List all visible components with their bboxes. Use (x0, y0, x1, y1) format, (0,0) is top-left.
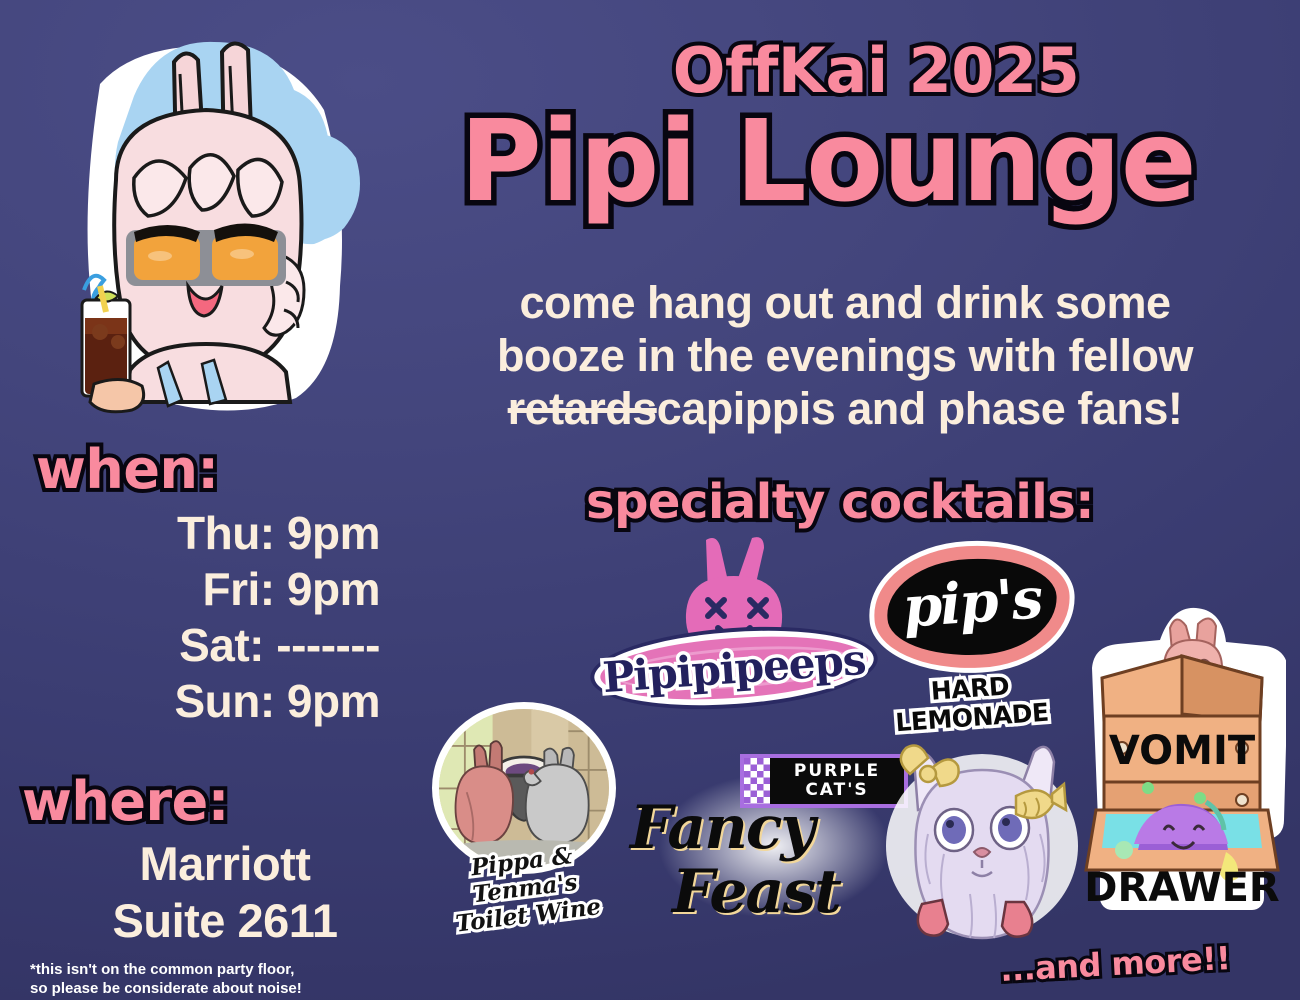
where-label: where: (22, 775, 229, 829)
event-name: OffKai 2025 (596, 40, 1156, 102)
blurb-line-1: come hang out and drink some (410, 276, 1280, 329)
pippa-mascot-icon (38, 18, 378, 428)
poster-canvas: OffKai 2025 Pipi Lounge come hang out an… (0, 0, 1300, 1000)
pippa-mascot-sticker (38, 18, 378, 428)
cocktail-logo-fancy-feast: PURPLE CAT'S Fancy Feast (624, 752, 924, 942)
venue-name: Marriott (40, 835, 410, 892)
peeps-wordmark: Pipipipeeps (593, 634, 876, 702)
when-label: when: (36, 443, 219, 497)
schedule-row-thu: Thu: 9pm (60, 505, 380, 561)
fancy-feast-wordmark: Fancy Feast (630, 796, 900, 924)
pips-subtitle: HARD LEMONADE (864, 667, 1078, 740)
cocktail-logo-pipipipeeps: Pipipipeeps (594, 536, 874, 716)
blurb-struck-word: retards (508, 383, 657, 434)
cocktails-heading: specialty cocktails: (470, 478, 1210, 526)
cocktail-logo-vomit-drawer: VOMIT DRAWER (1078, 606, 1286, 916)
room-number: Suite 2611 (40, 892, 410, 949)
and-more-text: ...and more!! (999, 942, 1231, 986)
blurb-line-3: retardscapippis and phase fans! (410, 382, 1280, 435)
blurb-line-2: booze in the evenings with fellow (410, 329, 1280, 382)
toilet-wine-wordmark: Pippa & Tenma's Toilet Wine (416, 836, 634, 942)
vomit-drawer-icon: VOMIT DRAWER (1078, 606, 1286, 916)
page-title: Pipi Lounge (398, 106, 1258, 218)
where-location: Marriott Suite 2611 (40, 835, 410, 949)
noise-footnote: *this isn't on the common party floor, s… (30, 960, 370, 998)
drawer-label: DRAWER (1084, 865, 1279, 911)
cocktail-logo-pips-hard-lemonade: pip's HARD LEMONADE (866, 546, 1076, 716)
purple-cat-character-art (884, 734, 1080, 940)
footnote-line-2: so please be considerate about noise! (30, 979, 370, 998)
event-blurb: come hang out and drink some booze in th… (410, 276, 1280, 435)
fancy-feast-line-2: Feast (630, 860, 900, 924)
footnote-line-1: *this isn't on the common party floor, (30, 960, 370, 979)
vomit-label: VOMIT (1109, 728, 1256, 774)
schedule-row-sat: Sat: ------- (60, 617, 380, 673)
schedule-row-fri: Fri: 9pm (60, 561, 380, 617)
when-schedule: Thu: 9pm Fri: 9pm Sat: ------- Sun: 9pm (60, 505, 380, 729)
blurb-line-3-text: capippis and phase fans! (657, 383, 1183, 434)
fancy-feast-line-1: Fancy (630, 793, 813, 863)
cocktail-logo-toilet-wine: Pippa & Tenma's Toilet Wine (424, 702, 624, 927)
fluffy-lavender-cat-icon (884, 734, 1080, 940)
schedule-row-sun: Sun: 9pm (60, 673, 380, 729)
pips-wordmark: pip's (872, 563, 1072, 643)
